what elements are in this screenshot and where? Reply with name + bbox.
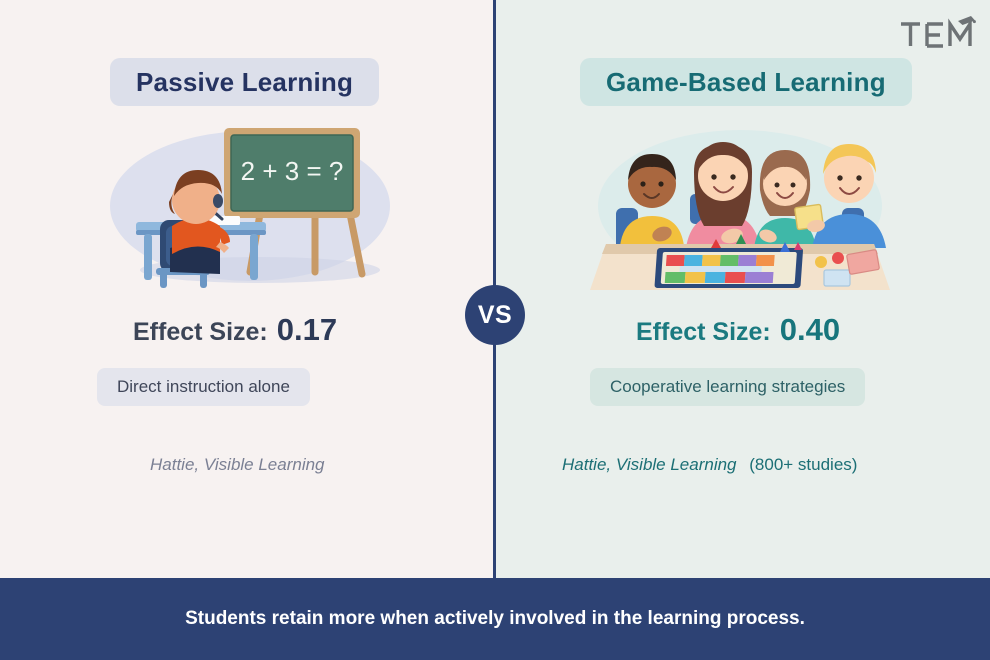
title-game-based-learning: Game-Based Learning	[580, 58, 912, 106]
banner-text: Students retain more when actively invol…	[185, 608, 805, 630]
citation-right-source: Hattie, Visible Learning	[562, 455, 737, 474]
bottom-banner: Students retain more when actively invol…	[0, 578, 990, 660]
illustration-student-at-desk: 2 + 3 = ?	[100, 122, 400, 290]
effect-size-label-left: Effect Size:	[133, 318, 268, 347]
illustration-children-board-game	[590, 122, 890, 290]
caption-direct-instruction: Direct instruction alone	[97, 368, 310, 406]
citation-left: Hattie, Visible Learning	[150, 455, 325, 475]
child-2	[686, 142, 760, 248]
effect-size-label-right: Effect Size:	[636, 318, 771, 347]
effect-size-passive: Effect Size: 0.17	[133, 312, 337, 352]
citation-right: Hattie, Visible Learning (800+ studies)	[562, 455, 857, 475]
effect-size-value-left: 0.17	[277, 312, 337, 348]
child-3	[754, 150, 816, 248]
tem-logo	[898, 10, 976, 54]
caption-cooperative-learning: Cooperative learning strategies	[590, 368, 865, 406]
effect-size-game-based: Effect Size: 0.40	[636, 312, 840, 352]
effect-size-value-right: 0.40	[780, 312, 840, 348]
title-passive-learning: Passive Learning	[110, 58, 379, 106]
vs-badge: VS	[465, 285, 525, 345]
citation-right-studies: (800+ studies)	[749, 455, 857, 474]
infographic-root: Passive Learning Game-Based Learning 2 +…	[0, 0, 990, 660]
chalkboard-text: 2 + 3 = ?	[241, 156, 344, 186]
